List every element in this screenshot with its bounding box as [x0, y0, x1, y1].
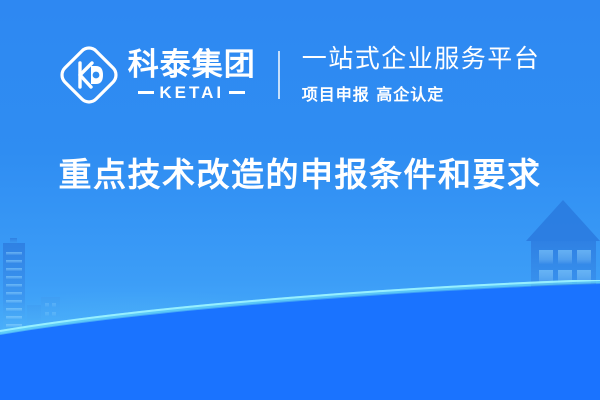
brand-logo-text: 科泰集团 KETAI [128, 49, 256, 101]
dash-right-icon [229, 91, 245, 94]
promo-banner: 科泰集团 KETAI 一站式企业服务平台 项目申报 高企认定 重点技术改造的申报… [0, 0, 600, 400]
tagline-block: 一站式企业服务平台 项目申报 高企认定 [302, 45, 541, 105]
tagline-main: 一站式企业服务平台 [302, 45, 541, 74]
header-divider [278, 51, 280, 99]
tagline-sub: 项目申报 高企认定 [302, 81, 541, 105]
brand-name-en: KETAI [159, 84, 224, 101]
dash-left-icon [138, 91, 154, 94]
ketai-diamond-monogram-icon [60, 46, 118, 104]
bottom-wave-decoration [0, 280, 600, 400]
brand-name-en-row: KETAI [138, 84, 245, 101]
brand-logo[interactable]: 科泰集团 KETAI [60, 46, 256, 104]
brand-name-cn: 科泰集团 [128, 49, 256, 80]
banner-header: 科泰集团 KETAI 一站式企业服务平台 项目申报 高企认定 [0, 30, 600, 120]
page-title: 重点技术改造的申报条件和要求 [0, 148, 600, 196]
